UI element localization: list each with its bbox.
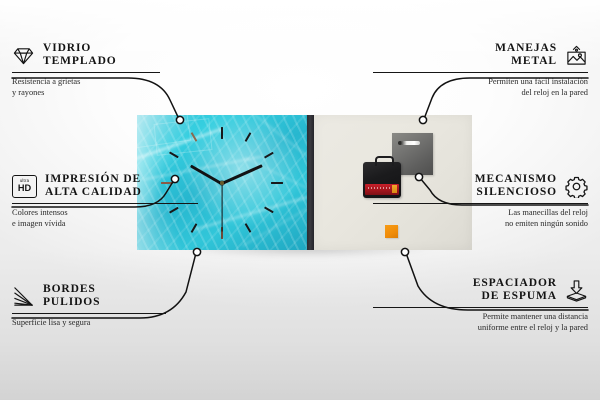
feature-title: VIDRIO TEMPLADO [43,42,117,68]
tick-3 [271,182,283,184]
wall-frame-hanger-icon [565,44,588,67]
feature-header: MECANISMO SILENCIOSO [373,173,588,199]
feature-header: BORDES PULIDOS [12,283,227,309]
feature-description: Resistencia a grietas y rayones [12,77,227,98]
feature-title: BORDES PULIDOS [43,283,100,309]
feature-header: VIDRIO TEMPLADO [12,42,227,68]
tick-4 [264,207,273,213]
mechanism-hanger-tab [375,156,394,166]
feature-rule [373,72,588,73]
feature-espaciador-de-espuma[interactable]: ESPACIADOR DE ESPUMA Permite mantener un… [373,277,588,333]
diamond-icon [12,44,35,67]
feature-vidrio-templado[interactable]: VIDRIO TEMPLADO Resistencia a grietas y … [12,42,227,98]
feature-rule [12,203,198,204]
infographic-canvas: VIDRIO TEMPLADO Resistencia a grietas y … [0,0,600,400]
glass-edge-strip [307,115,314,250]
tick-11 [191,132,197,141]
feature-manejas-metal[interactable]: MANEJAS METAL Permiten una fácil instala… [373,42,588,98]
feature-mecanismo-silencioso[interactable]: MECANISMO SILENCIOSO Las manecillas del … [373,173,588,229]
polished-edges-icon [12,285,35,308]
tick-2 [264,152,273,158]
feature-title: ESPACIADOR DE ESPUMA [473,277,557,303]
feature-description: Colores intensos e imagen vívida [12,208,227,229]
hanger-slot [401,141,420,145]
minute-hand [221,164,262,185]
tick-1 [245,132,251,141]
tick-5 [245,223,251,232]
feature-bordes-pulidos[interactable]: BORDES PULIDOS Superficie lisa y segura [12,283,227,329]
press-down-foam-icon [565,279,588,302]
ultra-hd-icon-hd-text: HD [18,184,31,193]
ultra-hd-icon: ultra HD [12,175,37,198]
gear-icon [565,175,588,198]
feature-header: ESPACIADOR DE ESPUMA [373,277,588,303]
feature-description: Permite mantener una distancia uniforme … [373,312,588,333]
feature-title: MECANISMO SILENCIOSO [475,173,557,199]
feature-rule [373,307,588,308]
feature-title: MANEJAS METAL [495,42,557,68]
feature-header: MANEJAS METAL [373,42,588,68]
feature-rule [373,203,588,204]
feature-title: IMPRESIÓN DE ALTA CALIDAD [45,173,142,199]
feature-description: Las manecillas del reloj no emiten ningú… [373,208,588,229]
feature-description: Permiten una fácil instalación del reloj… [373,77,588,98]
feature-impresion-alta-calidad[interactable]: ultra HD IMPRESIÓN DE ALTA CALIDAD Color… [12,173,227,229]
tick-10 [169,152,178,158]
feature-header: ultra HD IMPRESIÓN DE ALTA CALIDAD [12,173,227,199]
feature-rule [12,72,160,73]
feature-description: Superficie lisa y segura [12,318,227,329]
feature-rule [12,313,166,314]
tick-12 [221,127,223,139]
